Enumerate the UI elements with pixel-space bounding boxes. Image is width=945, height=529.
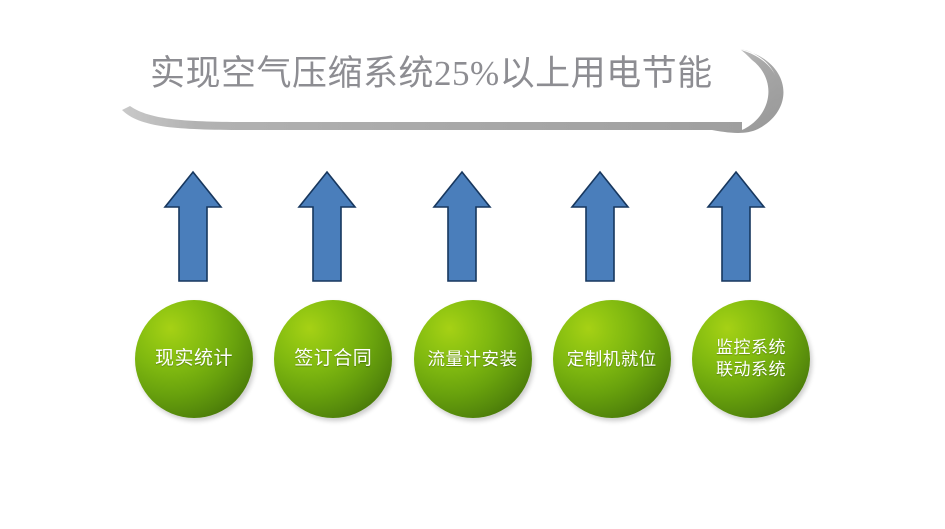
- step-circle-label: 现实统计: [151, 347, 237, 371]
- up-arrow-icon: [572, 172, 628, 281]
- up-arrow-icon: [434, 172, 490, 281]
- step-circle-3[interactable]: 流量计安装: [414, 300, 532, 418]
- title-block: 实现空气压缩系统25%以上用电节能: [0, 0, 945, 150]
- up-arrow-icon: [165, 172, 221, 281]
- step-circle-label: 流量计安装: [424, 348, 522, 370]
- step-circle-1[interactable]: 现实统计: [135, 300, 253, 418]
- step-circle-2[interactable]: 签订合同: [274, 300, 392, 418]
- step-circle-label: 签订合同: [290, 347, 376, 371]
- step-circle-row: 现实统计 签订合同 流量计安装 定制机就位 监控系统 联动系统: [135, 300, 810, 420]
- step-circle-label: 定制机就位: [563, 348, 661, 370]
- up-arrow-icon: [708, 172, 764, 281]
- page-title: 实现空气压缩系统25%以上用电节能: [150, 48, 770, 100]
- title-underline-band: [122, 106, 742, 130]
- up-arrow-icon: [299, 172, 355, 281]
- step-circle-label: 监控系统 联动系统: [712, 337, 790, 382]
- presentation-slide: 实现空气压缩系统25%以上用电节能 现实统计 签订合同 流量计安装 定制机就位 …: [0, 0, 945, 529]
- step-circle-5[interactable]: 监控系统 联动系统: [692, 300, 810, 418]
- step-circle-4[interactable]: 定制机就位: [553, 300, 671, 418]
